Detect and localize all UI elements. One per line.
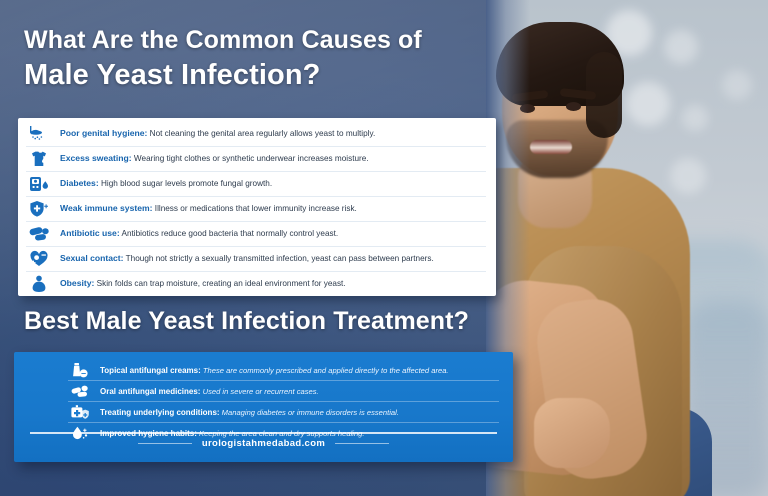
shield-cross-icon xyxy=(26,198,52,220)
bokeh-light xyxy=(722,70,752,100)
list-item-term: Antibiotic use: xyxy=(60,229,120,238)
bokeh-light xyxy=(682,105,708,131)
cream-tube-icon xyxy=(68,360,92,380)
causes-card: Poor genital hygiene: Not cleaning the g… xyxy=(18,118,496,296)
list-item-detail: Not cleaning the genital area regularly … xyxy=(147,129,375,138)
main-heading: What Are the Common Causes of Male Yeast… xyxy=(24,26,484,93)
glucose-meter-icon xyxy=(26,173,52,195)
list-item-detail: Antibiotics reduce good bacteria that no… xyxy=(120,229,338,238)
list-item-term: Topical antifungal creams: xyxy=(100,366,201,375)
bokeh-light xyxy=(626,82,670,126)
oral-medicine-icon xyxy=(68,381,92,401)
list-item-text: Poor genital hygiene: Not cleaning the g… xyxy=(60,129,375,139)
heading-line-2: Male Yeast Infection? xyxy=(24,58,484,93)
list-item: Sexual contact: Though not strictly a se… xyxy=(26,247,486,272)
heading-line-1: What Are the Common Causes of xyxy=(24,26,484,55)
heading-2-text: Best Male Yeast Infection Treatment? xyxy=(24,307,494,336)
list-item: Poor genital hygiene: Not cleaning the g… xyxy=(26,122,486,147)
patient-photo xyxy=(486,0,768,496)
list-item-term: Obesity: xyxy=(60,279,94,288)
list-item-text: Antibiotic use: Antibiotics reduce good … xyxy=(60,229,338,239)
list-item-term: Poor genital hygiene: xyxy=(60,129,147,138)
footer-rule-left xyxy=(138,443,192,444)
photo-mouth xyxy=(530,140,572,154)
list-item: Oral antifungal medicines: Used in sever… xyxy=(68,381,499,402)
list-item-text: Excess sweating: Wearing tight clothes o… xyxy=(60,154,369,164)
treatment-list: Topical antifungal creams: These are com… xyxy=(14,352,513,443)
list-item-term: Excess sweating: xyxy=(60,154,132,163)
list-item: Excess sweating: Wearing tight clothes o… xyxy=(26,147,486,172)
list-item-text: Oral antifungal medicines: Used in sever… xyxy=(100,387,319,396)
footer-divider xyxy=(30,432,497,434)
list-item-term: Weak immune system: xyxy=(60,204,153,213)
photo-hands xyxy=(534,398,610,468)
list-item-text: Weak immune system: Illness or medicatio… xyxy=(60,204,357,214)
list-item-text: Treating underlying conditions: Managing… xyxy=(100,408,399,417)
list-item-term: Oral antifungal medicines: xyxy=(100,387,200,396)
list-item-text: Topical antifungal creams: These are com… xyxy=(100,366,449,375)
list-item-detail: High blood sugar levels promote fungal g… xyxy=(99,179,272,188)
obesity-person-icon xyxy=(26,273,52,295)
footer-rule-right xyxy=(335,443,389,444)
list-item-detail: Skin folds can trap moisture, creating a… xyxy=(94,279,345,288)
list-item-term: Diabetes: xyxy=(60,179,99,188)
list-item-detail: Used in severe or recurrent cases. xyxy=(200,387,318,396)
list-item: Weak immune system: Illness or medicatio… xyxy=(26,197,486,222)
causes-list: Poor genital hygiene: Not cleaning the g… xyxy=(18,118,496,300)
footer-domain-bar: urologistahmedabad.com xyxy=(14,438,513,449)
sweating-shirt-icon xyxy=(26,148,52,170)
photo-eye xyxy=(566,102,581,111)
list-item-term: Sexual contact: xyxy=(60,254,124,263)
medical-shield-icon xyxy=(68,402,92,422)
infographic-poster: What Are the Common Causes of Male Yeast… xyxy=(0,0,768,496)
heart-couple-icon xyxy=(26,248,52,270)
list-item-text: Diabetes: High blood sugar levels promot… xyxy=(60,179,272,189)
bokeh-light xyxy=(664,30,698,64)
treatment-card: Topical antifungal creams: These are com… xyxy=(14,352,513,462)
list-item-term: Treating underlying conditions: xyxy=(100,408,220,417)
list-item-detail: Managing diabetes or immune disorders is… xyxy=(220,408,399,417)
bokeh-light xyxy=(670,158,706,194)
list-item: Diabetes: High blood sugar levels promot… xyxy=(26,172,486,197)
list-item-detail: Wearing tight clothes or synthetic under… xyxy=(132,154,369,163)
website-domain: urologistahmedabad.com xyxy=(202,438,325,449)
list-item: Antibiotic use: Antibiotics reduce good … xyxy=(26,222,486,247)
list-item-text: Sexual contact: Though not strictly a se… xyxy=(60,254,434,264)
list-item-detail: Illness or medications that lower immuni… xyxy=(153,204,357,213)
list-item-detail: Though not strictly a sexually transmitt… xyxy=(124,254,434,263)
list-item: Treating underlying conditions: Managing… xyxy=(68,402,499,423)
treatment-heading: Best Male Yeast Infection Treatment? xyxy=(24,307,494,336)
pills-icon xyxy=(26,223,52,245)
list-item-text: Obesity: Skin folds can trap moisture, c… xyxy=(60,279,346,289)
shower-icon xyxy=(26,123,52,145)
list-item: Topical antifungal creams: These are com… xyxy=(68,360,499,381)
list-item-detail: These are commonly prescribed and applie… xyxy=(201,366,449,375)
list-item: Obesity: Skin folds can trap moisture, c… xyxy=(26,272,486,296)
